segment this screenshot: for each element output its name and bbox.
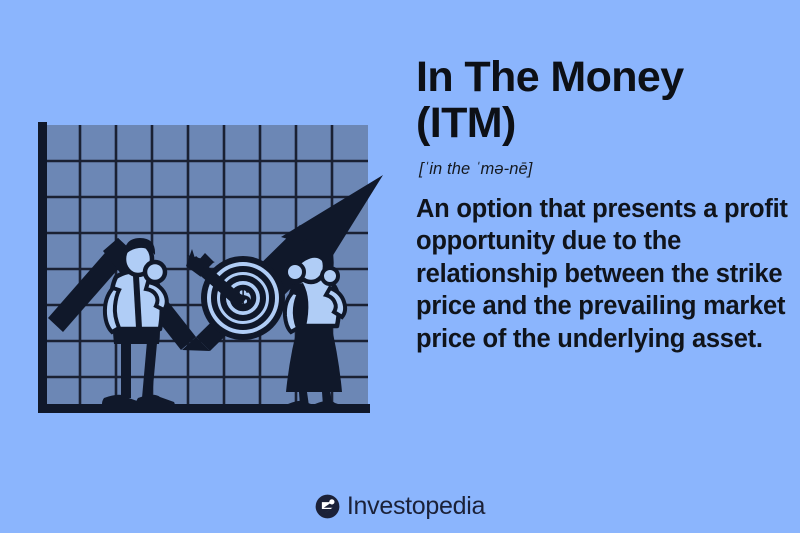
- investopedia-swoosh-icon: [315, 494, 340, 519]
- definition-text-column: In The Money (ITM) [ˈin the ˈmə-nē] An o…: [416, 54, 788, 355]
- page-title: In The Money (ITM): [416, 54, 788, 147]
- illustration-panel: $: [0, 0, 400, 470]
- pronunciation: [ˈin the ˈmə-nē]: [419, 160, 788, 179]
- definition-card: $: [0, 0, 800, 533]
- definition-text: An option that presents a profit opportu…: [416, 193, 788, 356]
- footer-branding: Investopedia: [0, 494, 800, 519]
- brand-name: Investopedia: [347, 494, 485, 519]
- stock-chart-target-illustration: $: [0, 0, 400, 470]
